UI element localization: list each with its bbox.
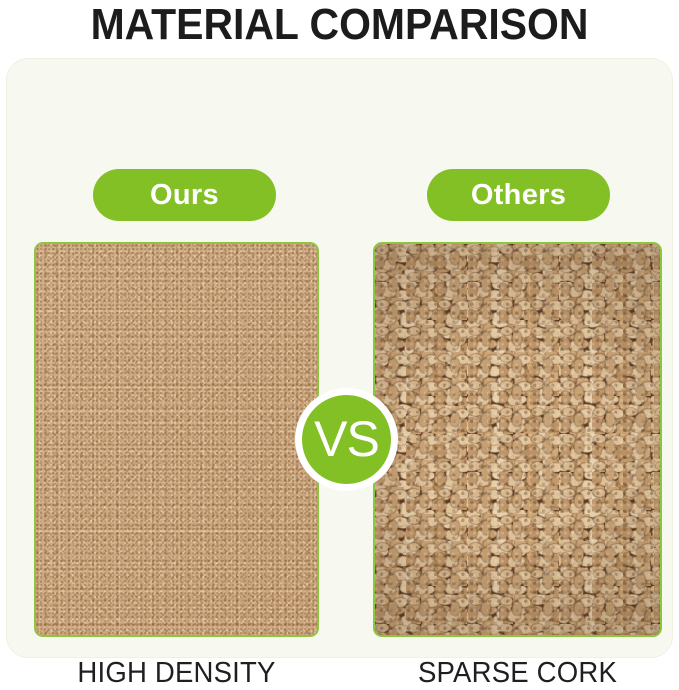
sample-panel-ours <box>34 242 319 637</box>
caption-others: SPARSE CORK <box>380 656 655 690</box>
comparison-card: Ours Others VS HIGH DENSITY SPARSE CORK <box>6 58 673 658</box>
fine-cork-texture <box>36 244 317 635</box>
sample-panel-others <box>373 242 662 637</box>
badge-others: Others <box>427 169 610 221</box>
badge-ours-label: Ours <box>150 179 219 212</box>
vs-badge: VS <box>295 388 398 491</box>
caption-ours: HIGH DENSITY <box>41 656 312 690</box>
page-title: MATERIAL COMPARISON <box>24 2 655 48</box>
vs-badge-label: VS <box>314 414 379 464</box>
badge-ours: Ours <box>93 169 276 221</box>
badge-others-label: Others <box>471 179 566 212</box>
coarse-cork-texture <box>375 244 660 635</box>
